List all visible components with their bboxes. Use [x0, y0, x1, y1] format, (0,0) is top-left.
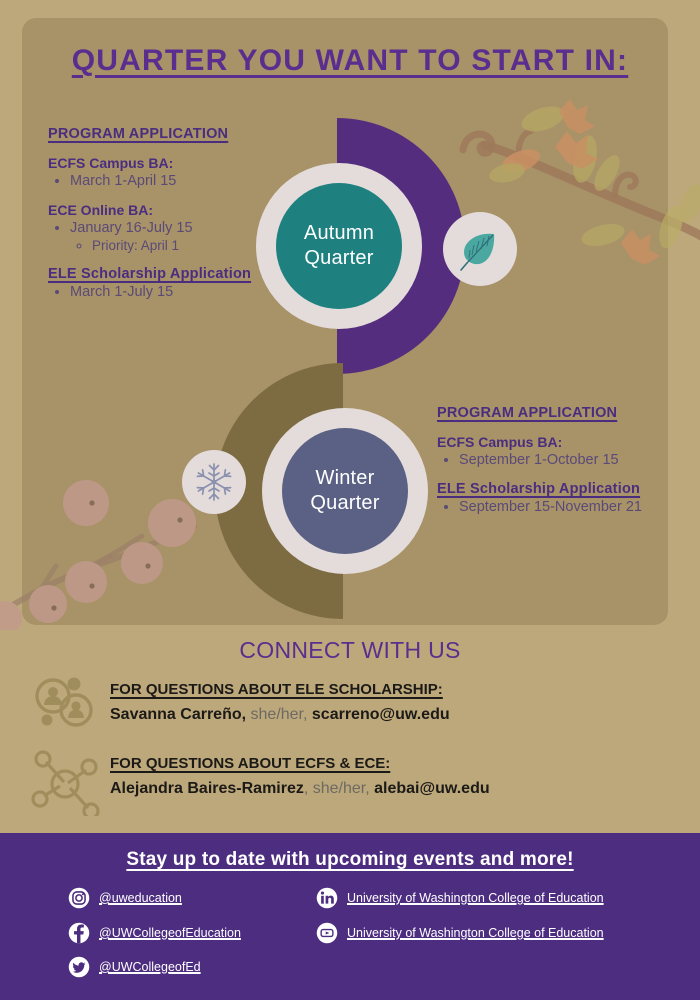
list-item: January 16-July 15 [70, 220, 328, 236]
winter-program-heading: PROGRAM APPLICATION [437, 405, 687, 421]
social-link-instagram[interactable]: @uweducation [68, 887, 182, 909]
winter-circle-line1: Winter [316, 466, 375, 491]
contact-0-name: Savanna Carreño, [110, 706, 246, 723]
social-label-linkedin: University of Washington College of Educ… [347, 891, 604, 905]
winter-group-0-list: September 1-October 15 [437, 452, 687, 468]
poster: QUARTER YOU WANT TO START IN: Autumn Qua… [0, 0, 700, 1000]
leaf-badge [443, 212, 517, 286]
list-item: September 15-November 21 [459, 499, 687, 515]
autumn-scholarship-list: March 1-July 15 [48, 284, 328, 300]
page-title: QUARTER YOU WANT TO START IN: [0, 44, 700, 78]
autumn-group-0-list: March 1-April 15 [48, 173, 328, 189]
facebook-icon [68, 922, 90, 944]
snowflake-icon [193, 461, 235, 503]
contact-ecfs-ece: FOR QUESTIONS ABOUT ECFS & ECE: Alejandr… [110, 755, 490, 798]
autumn-info-block: PROGRAM APPLICATION ECFS Campus BA: Marc… [48, 126, 328, 300]
contact-1-email[interactable]: alebai@uw.edu [374, 780, 489, 797]
snowflake-badge [182, 450, 246, 514]
twitter-icon [68, 956, 90, 978]
winter-circle-label: Winter Quarter [282, 428, 408, 554]
social-link-facebook[interactable]: @UWCollegeofEducation [68, 922, 241, 944]
contact-1-heading: FOR QUESTIONS ABOUT ECFS & ECE: [110, 755, 490, 772]
social-link-linkedin[interactable]: University of Washington College of Educ… [316, 887, 604, 909]
social-label-twitter: @UWCollegeofEd [99, 960, 201, 974]
contact-1-line: Alejandra Baires-Ramirez, she/her, aleba… [110, 780, 490, 798]
autumn-group-1-label: ECE Online BA: [48, 202, 328, 218]
contact-0-line: Savanna Carreño, she/her, scarreno@uw.ed… [110, 706, 450, 724]
social-label-youtube: University of Washington College of Educ… [347, 926, 604, 940]
list-item: Priority: April 1 [92, 238, 328, 253]
autumn-scholarship-heading: ELE Scholarship Application [48, 266, 328, 282]
linkedin-icon [316, 887, 338, 909]
winter-group-0-label: ECFS Campus BA: [437, 434, 687, 450]
social-label-facebook: @UWCollegeofEducation [99, 926, 241, 940]
footer-title: Stay up to date with upcoming events and… [0, 849, 700, 871]
contact-0-pronouns: she/her, [251, 706, 308, 723]
social-link-twitter[interactable]: @UWCollegeofEd [68, 956, 201, 978]
leaf-icon [456, 225, 504, 273]
contact-ele-scholarship: FOR QUESTIONS ABOUT ELE SCHOLARSHIP: Sav… [110, 681, 450, 724]
list-item: March 1-July 15 [70, 284, 328, 300]
social-label-instagram: @uweducation [99, 891, 182, 905]
winter-circle-line2: Quarter [310, 491, 379, 516]
contact-0-email[interactable]: scarreno@uw.edu [312, 706, 450, 723]
winter-scholarship-heading: ELE Scholarship Application [437, 481, 687, 497]
connect-title: CONNECT WITH US [0, 637, 700, 664]
winter-info-block: PROGRAM APPLICATION ECFS Campus BA: Sept… [437, 405, 687, 515]
winter-scholarship-list: September 15-November 21 [437, 499, 687, 515]
autumn-program-heading: PROGRAM APPLICATION [48, 126, 328, 142]
network-nodes-icon [30, 750, 102, 816]
contact-0-heading: FOR QUESTIONS ABOUT ELE SCHOLARSHIP: [110, 681, 450, 698]
list-item: September 1-October 15 [459, 452, 687, 468]
list-item: March 1-April 15 [70, 173, 328, 189]
people-group-icon [32, 676, 96, 734]
social-link-youtube[interactable]: University of Washington College of Educ… [316, 922, 604, 944]
autumn-group-1-list: January 16-July 15 Priority: April 1 [48, 220, 328, 253]
contact-1-name: Alejandra Baires-Ramirez [110, 780, 304, 797]
autumn-group-0-label: ECFS Campus BA: [48, 155, 328, 171]
youtube-icon [316, 922, 338, 944]
instagram-icon [68, 887, 90, 909]
contact-1-pronouns: , she/her, [304, 780, 370, 797]
winter-circle-ring: Winter Quarter [262, 408, 428, 574]
autumn-group-1-sublist: Priority: April 1 [70, 238, 328, 253]
